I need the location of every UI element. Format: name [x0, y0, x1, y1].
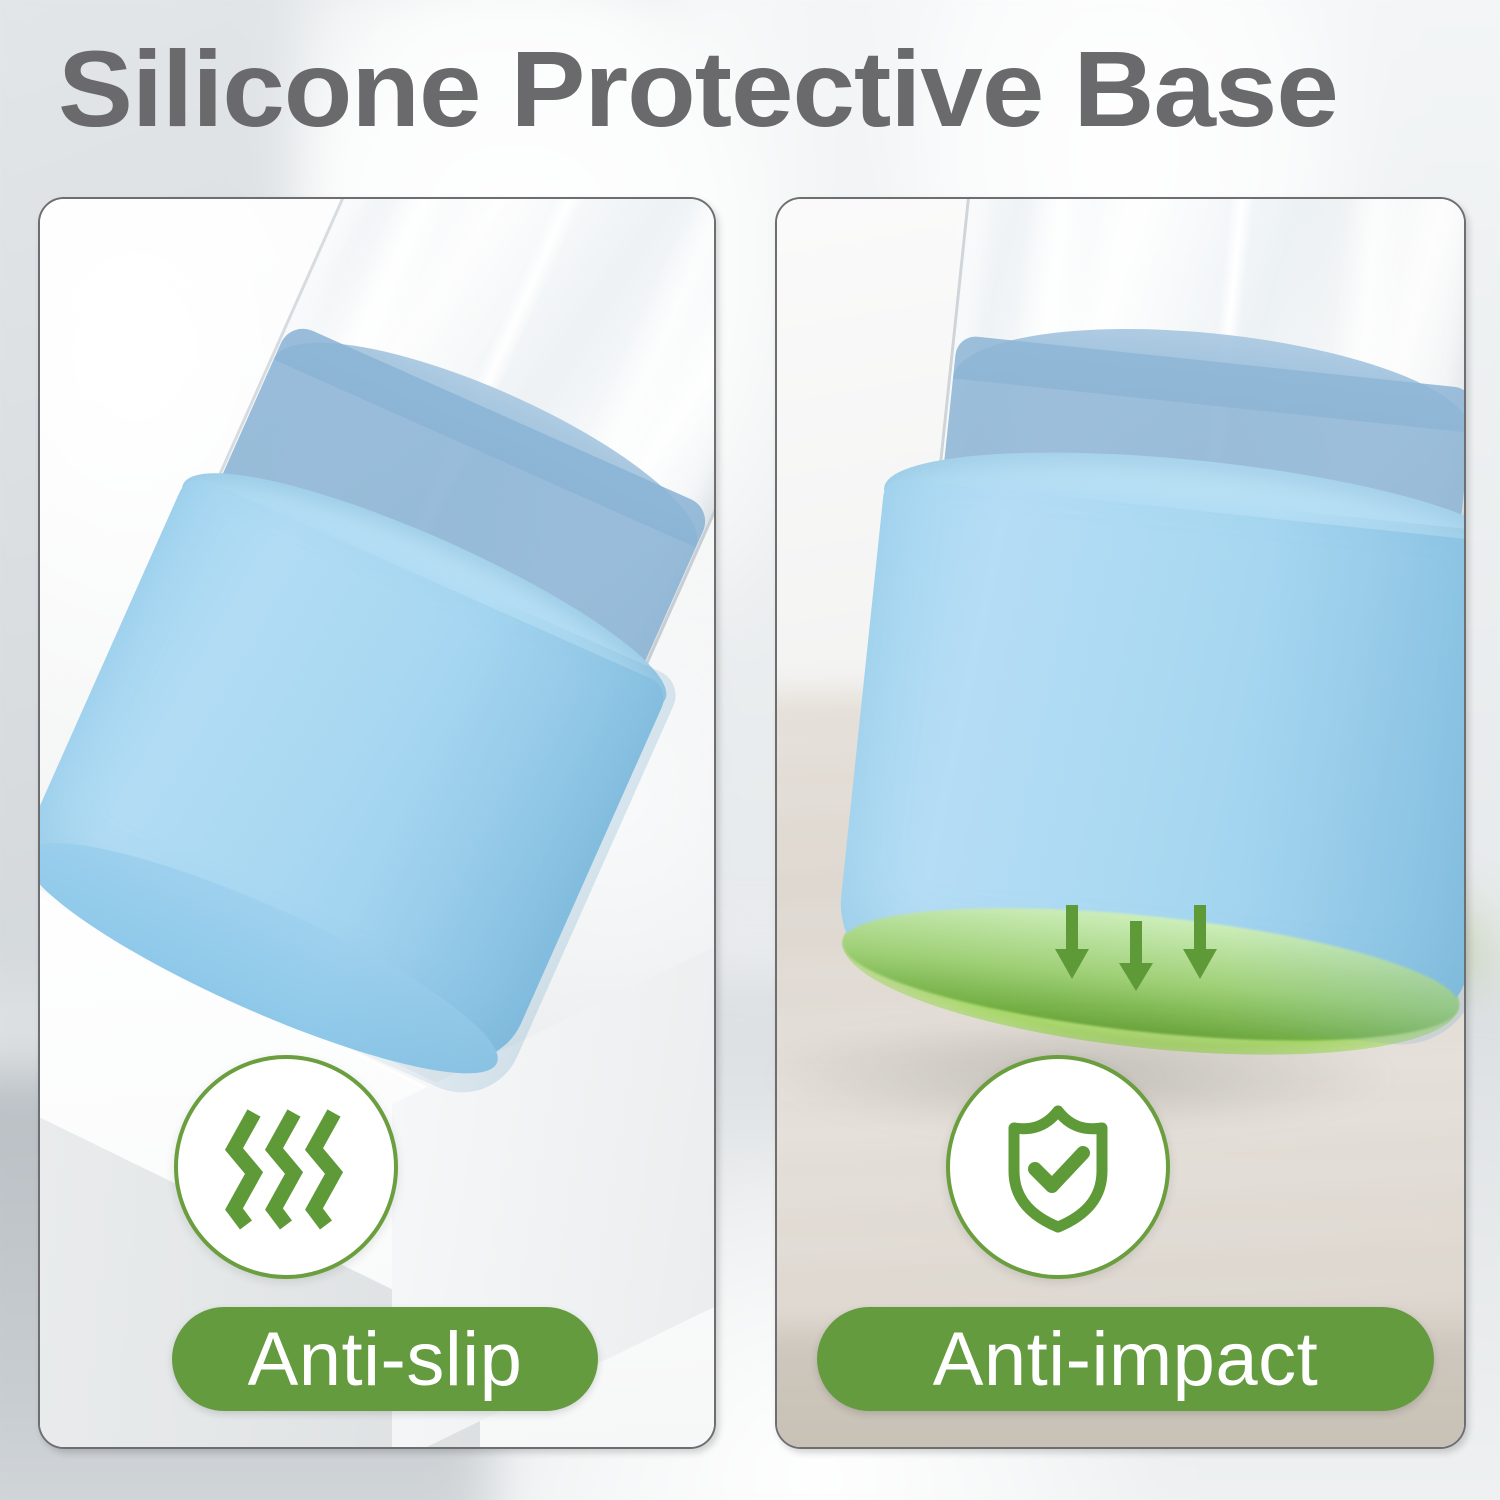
badge-label-anti-impact: Anti-impact — [817, 1307, 1434, 1411]
badge-label-anti-slip: Anti-slip — [172, 1307, 598, 1411]
shield-check-icon — [946, 1055, 1170, 1279]
bottle-upright — [872, 199, 1464, 1155]
down-arrow-icon — [1183, 905, 1217, 979]
badge-anti-impact: Anti-impact — [775, 1055, 1462, 1411]
page-title: Silicone Protective Base — [58, 34, 1338, 144]
zigzag-waves-icon — [174, 1055, 398, 1279]
impact-arrow-group — [1055, 905, 1217, 991]
down-arrow-icon — [1055, 905, 1089, 979]
badge-anti-slip: Anti-slip — [38, 1055, 712, 1411]
down-arrow-icon — [1119, 921, 1153, 991]
